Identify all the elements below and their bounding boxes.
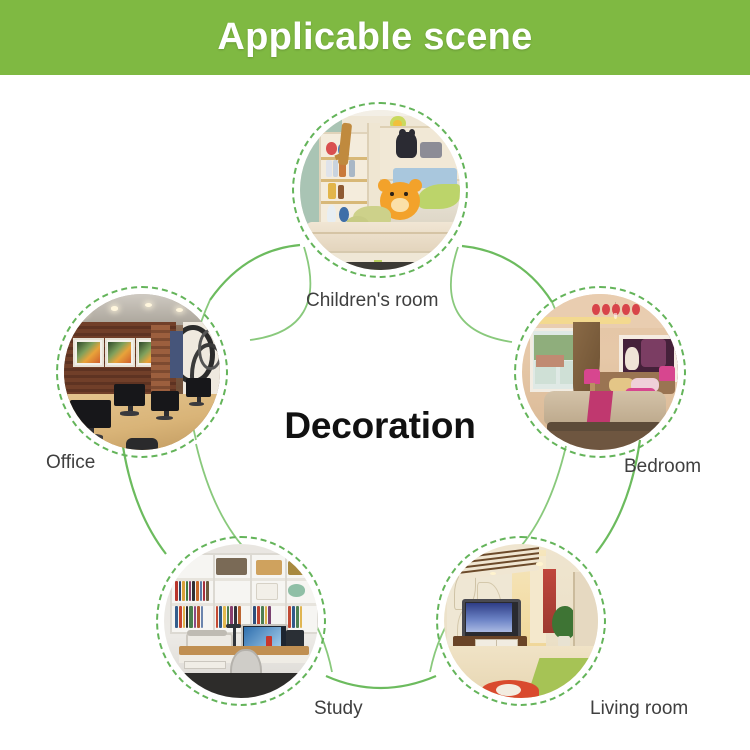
node-bedroom[interactable]: Bedroom bbox=[514, 286, 686, 458]
node-label-bedroom: Bedroom bbox=[624, 456, 701, 478]
node-children-room[interactable]: Children's room bbox=[292, 102, 468, 278]
node-label-living-room: Living room bbox=[590, 698, 688, 720]
photo-living-room bbox=[444, 544, 598, 698]
node-office[interactable]: Office bbox=[56, 286, 228, 458]
infographic-page: Applicable scene Decoration bbox=[0, 0, 750, 750]
node-label-children-room: Children's room bbox=[306, 290, 438, 312]
photo-office bbox=[64, 294, 220, 450]
center-label: Decoration bbox=[230, 405, 530, 447]
node-label-office: Office bbox=[46, 452, 95, 474]
node-study[interactable]: Study bbox=[156, 536, 326, 706]
photo-children-room bbox=[300, 110, 460, 270]
photo-study bbox=[164, 544, 318, 698]
node-living-room[interactable]: Living room bbox=[436, 536, 606, 706]
node-label-study: Study bbox=[314, 698, 363, 720]
photo-bedroom bbox=[522, 294, 678, 450]
